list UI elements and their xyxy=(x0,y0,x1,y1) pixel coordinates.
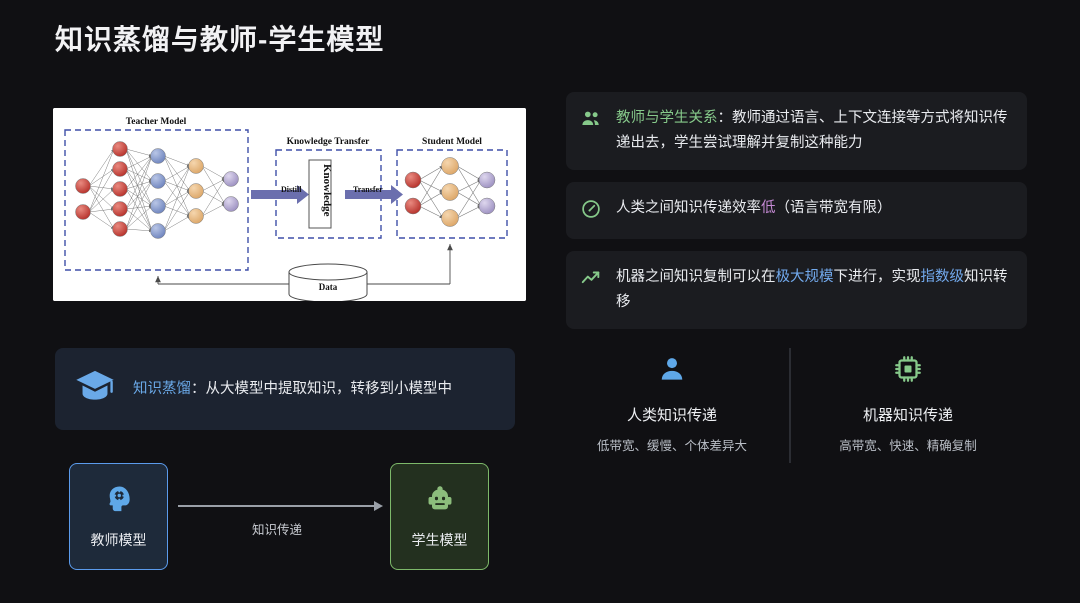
person-icon xyxy=(566,348,778,390)
flow-arrow-line xyxy=(178,505,376,507)
svg-text:Data: Data xyxy=(319,282,338,292)
distillation-definition-card: 知识蒸馏：从大模型中提取知识，转移到小模型中 xyxy=(55,348,515,430)
bullet-list: 教师与学生关系：教师通过语言、上下文连接等方式将知识传递出去，学生尝试理解并复制… xyxy=(566,92,1027,341)
teacher-student-flow: 教师模型 知识传递 学生模型 xyxy=(60,463,520,573)
distill-term: 知识蒸馏 xyxy=(133,381,191,397)
bullet-segment-highlight-1: 极大规模 xyxy=(776,269,834,285)
svg-text:Knowledge: Knowledge xyxy=(321,164,333,217)
flow-arrow-head xyxy=(374,501,383,511)
comparison-title-machine: 机器知识传递 xyxy=(802,404,1014,425)
bullet-card-human-efficiency: 人类之间知识传递效率低（语言带宽有限） xyxy=(566,182,1027,239)
robot-icon xyxy=(424,483,456,520)
distillation-definition-text: 知识蒸馏：从大模型中提取知识，转移到小模型中 xyxy=(133,377,452,402)
svg-text:Student Model: Student Model xyxy=(422,137,482,147)
svg-text:Distill: Distill xyxy=(281,185,302,194)
bullet-segment-mid: 下进行，实现 xyxy=(834,269,921,285)
page-title: 知识蒸馏与教师-学生模型 xyxy=(55,18,384,58)
bullet-segment-highlight: 教师与学生关系 xyxy=(616,110,718,126)
comparison-desc-human: 低带宽、缓慢、个体差异大 xyxy=(566,435,778,454)
comparison-title-human: 人类知识传递 xyxy=(566,404,778,425)
bullet-text-teacher-student: 教师与学生关系：教师通过语言、上下文连接等方式将知识传递出去，学生尝试理解并复制… xyxy=(616,106,1011,156)
trending-up-icon xyxy=(580,265,606,294)
bullet-segment-highlight: 低 xyxy=(761,200,776,216)
bullet-card-machine-scale: 机器之间知识复制可以在极大规模下进行，实现指数级知识转移 xyxy=(566,251,1027,329)
bullet-segment-tail: （语言带宽有限） xyxy=(776,200,892,216)
chip-icon xyxy=(802,348,1014,390)
svg-text:Teacher Model: Teacher Model xyxy=(126,117,187,127)
gauge-icon xyxy=(580,196,606,225)
bullet-segment-highlight-2: 指数级 xyxy=(921,269,965,285)
flow-node-student: 学生模型 xyxy=(390,463,489,570)
flow-node-student-label: 学生模型 xyxy=(412,530,468,550)
distill-body: ：从大模型中提取知识，转移到小模型中 xyxy=(191,381,452,397)
comparison-column-human: 人类知识传递 低带宽、缓慢、个体差异大 xyxy=(566,348,778,454)
graduation-cap-icon xyxy=(73,365,119,414)
svg-text:Transfer: Transfer xyxy=(353,185,383,194)
flow-arrow-label: 知识传递 xyxy=(178,519,376,538)
slide-root: 知识蒸馏与教师-学生模型 xyxy=(0,0,1080,603)
bullet-text-machine-scale: 机器之间知识复制可以在极大规模下进行，实现指数级知识转移 xyxy=(616,265,1011,315)
bullet-segment-body: 机器之间知识复制可以在 xyxy=(616,269,776,285)
flow-node-teacher: 教师模型 xyxy=(69,463,168,570)
column-divider xyxy=(789,348,791,463)
users-icon xyxy=(580,106,606,135)
flow-node-teacher-label: 教师模型 xyxy=(91,530,147,550)
bullet-segment-body: 人类之间知识传递效率 xyxy=(616,200,761,216)
comparison-section: 人类知识传递 低带宽、缓慢、个体差异大 机器知识传递 高带宽、快速、精确复制 xyxy=(566,348,1027,463)
head-gear-icon xyxy=(103,483,135,520)
svg-text:Knowledge Transfer: Knowledge Transfer xyxy=(287,137,371,147)
bullet-card-teacher-student: 教师与学生关系：教师通过语言、上下文连接等方式将知识传递出去，学生尝试理解并复制… xyxy=(566,92,1027,170)
knowledge-distillation-figure: Teacher Model Knowledge Transfer Student… xyxy=(53,108,526,301)
comparison-desc-machine: 高带宽、快速、精确复制 xyxy=(802,435,1014,454)
bullet-text-human-efficiency: 人类之间知识传递效率低（语言带宽有限） xyxy=(616,196,892,221)
comparison-column-machine: 机器知识传递 高带宽、快速、精确复制 xyxy=(802,348,1014,454)
